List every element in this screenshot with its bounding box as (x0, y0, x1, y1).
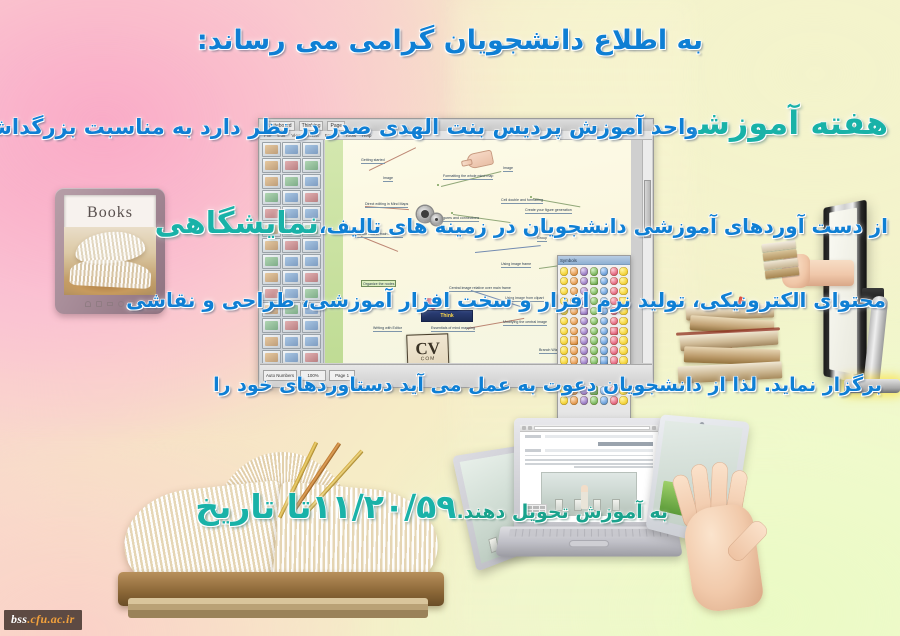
deadline-line: به آموزش تحویل دهند.۹۵/۰۲/۱۱تا تاریخ (195, 487, 668, 526)
announcement-line-2-text: از دست آوردهای آموزشی دانشجویان در زمینه… (319, 214, 888, 238)
poster-canvas: Books Whiteboard Thinking Page (0, 0, 900, 636)
page-title: به اطلاع دانشجویان گرامی می رساند: (0, 25, 900, 56)
emphasis-education-week: هفته آموزش (698, 104, 888, 142)
watermark-domain: .cfu.ac.ir (27, 612, 74, 626)
announcement-line-1: هفته آموزشواحد آموزش پردیس بنت الهدی صدر… (0, 104, 888, 142)
announcement-line-3: محتوای الکترونیکی، تولید نرم افزار و سخت… (126, 288, 886, 312)
deadline-suffix: به آموزش تحویل دهند. (456, 501, 668, 523)
announcement-line-4: برگزار نماید. لذا از دانشجویان دعوت به ع… (213, 374, 882, 396)
announcement-line-1-text: واحد آموزش پردیس بنت الهدی صدر در نظر دا… (0, 115, 698, 139)
watermark-name: bss (11, 612, 27, 626)
deadline-date: ۹۵/۰۲/۱۱ (311, 487, 456, 526)
deadline-prefix: تا تاریخ (195, 487, 311, 526)
site-watermark: bss.cfu.ac.ir (4, 610, 82, 630)
emphasis-exhibition: نمایشگاهی (155, 206, 319, 241)
poster-text-layer: به اطلاع دانشجویان گرامی می رساند: هفته … (0, 0, 900, 636)
announcement-line-2: از دست آوردهای آموزشی دانشجویان در زمینه… (155, 206, 888, 241)
